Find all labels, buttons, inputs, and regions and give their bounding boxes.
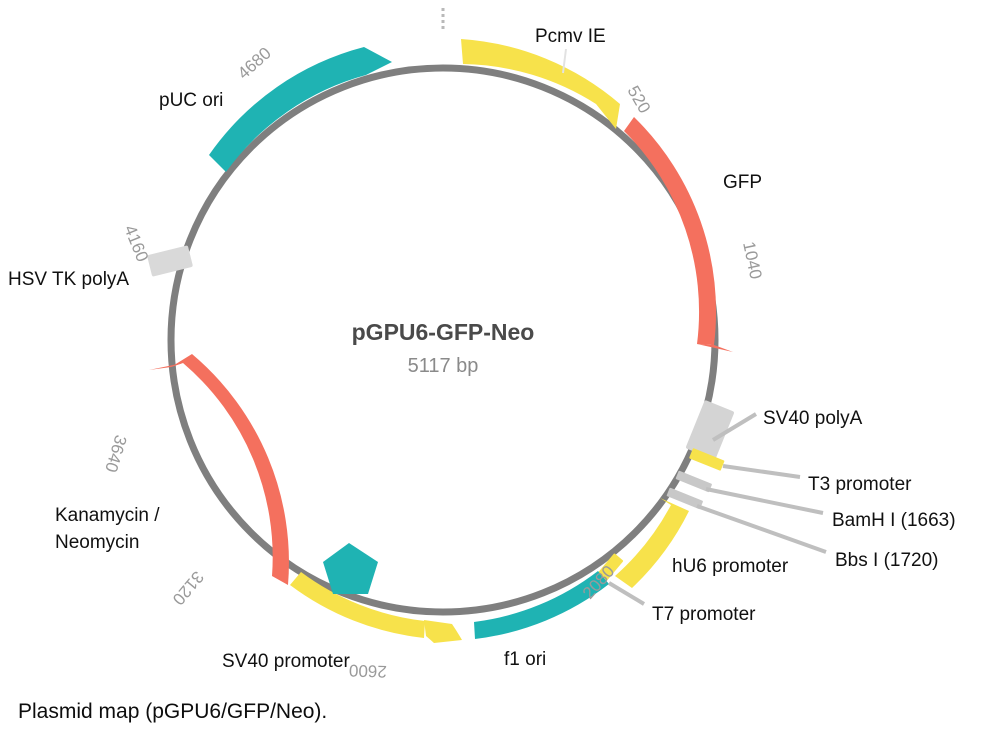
leader-bbsi [697, 506, 826, 552]
plasmid-map-figure: pUC ori Pcmv IE GFP SV40 polyA T3 promot… [0, 0, 982, 744]
label-puc-ori: pUC ori [159, 90, 223, 111]
label-kanamycin-line1: Kanamycin / [55, 505, 160, 526]
label-kanamycin-line2: Neomycin [55, 532, 139, 553]
label-f1-ori: f1 ori [504, 649, 546, 670]
label-sv40-polya: SV40 polyA [763, 408, 863, 429]
label-pcmv-ie: Pcmv IE [535, 26, 606, 47]
feature-unnamed-arrow[interactable] [424, 620, 462, 643]
label-hu6-promoter: hU6 promoter [672, 556, 789, 577]
tick-label-520: 520 [624, 83, 655, 117]
plasmid-size-label: 5117 bp [408, 355, 479, 377]
label-hsv-tk-polya: HSV TK polyA [8, 269, 129, 290]
plasmid-diagram: pUC ori Pcmv IE GFP SV40 polyA T3 promot… [0, 0, 982, 744]
label-bamhi: BamH I (1663) [832, 510, 956, 531]
tick-label-1040: 1040 [739, 240, 765, 281]
label-t3-promoter: T3 promoter [808, 474, 912, 495]
tick-label-2600: 2600 [349, 661, 387, 681]
tick-label-3640: 3640 [101, 433, 130, 475]
label-sv40-promoter: SV40 promoter [222, 651, 350, 672]
label-gfp: GFP [723, 172, 762, 193]
feature-inner-pentagon[interactable] [323, 543, 378, 594]
feature-hsv-tk-polya[interactable] [147, 245, 193, 277]
figure-caption: Plasmid map (pGPU6/GFP/Neo). [18, 700, 327, 724]
leader-t7-promoter [609, 583, 644, 604]
leader-t3-promoter [723, 466, 800, 477]
tick-label-4680: 4680 [234, 44, 275, 83]
label-t7-promoter: T7 promoter [652, 604, 756, 625]
tick-label-4160: 4160 [120, 222, 152, 264]
leader-bamhi [706, 489, 823, 513]
label-bbsi: Bbs I (1720) [835, 550, 939, 571]
tick-label-3120: 3120 [169, 567, 208, 608]
page-title: pGPU6-GFP-Neo [352, 319, 535, 345]
